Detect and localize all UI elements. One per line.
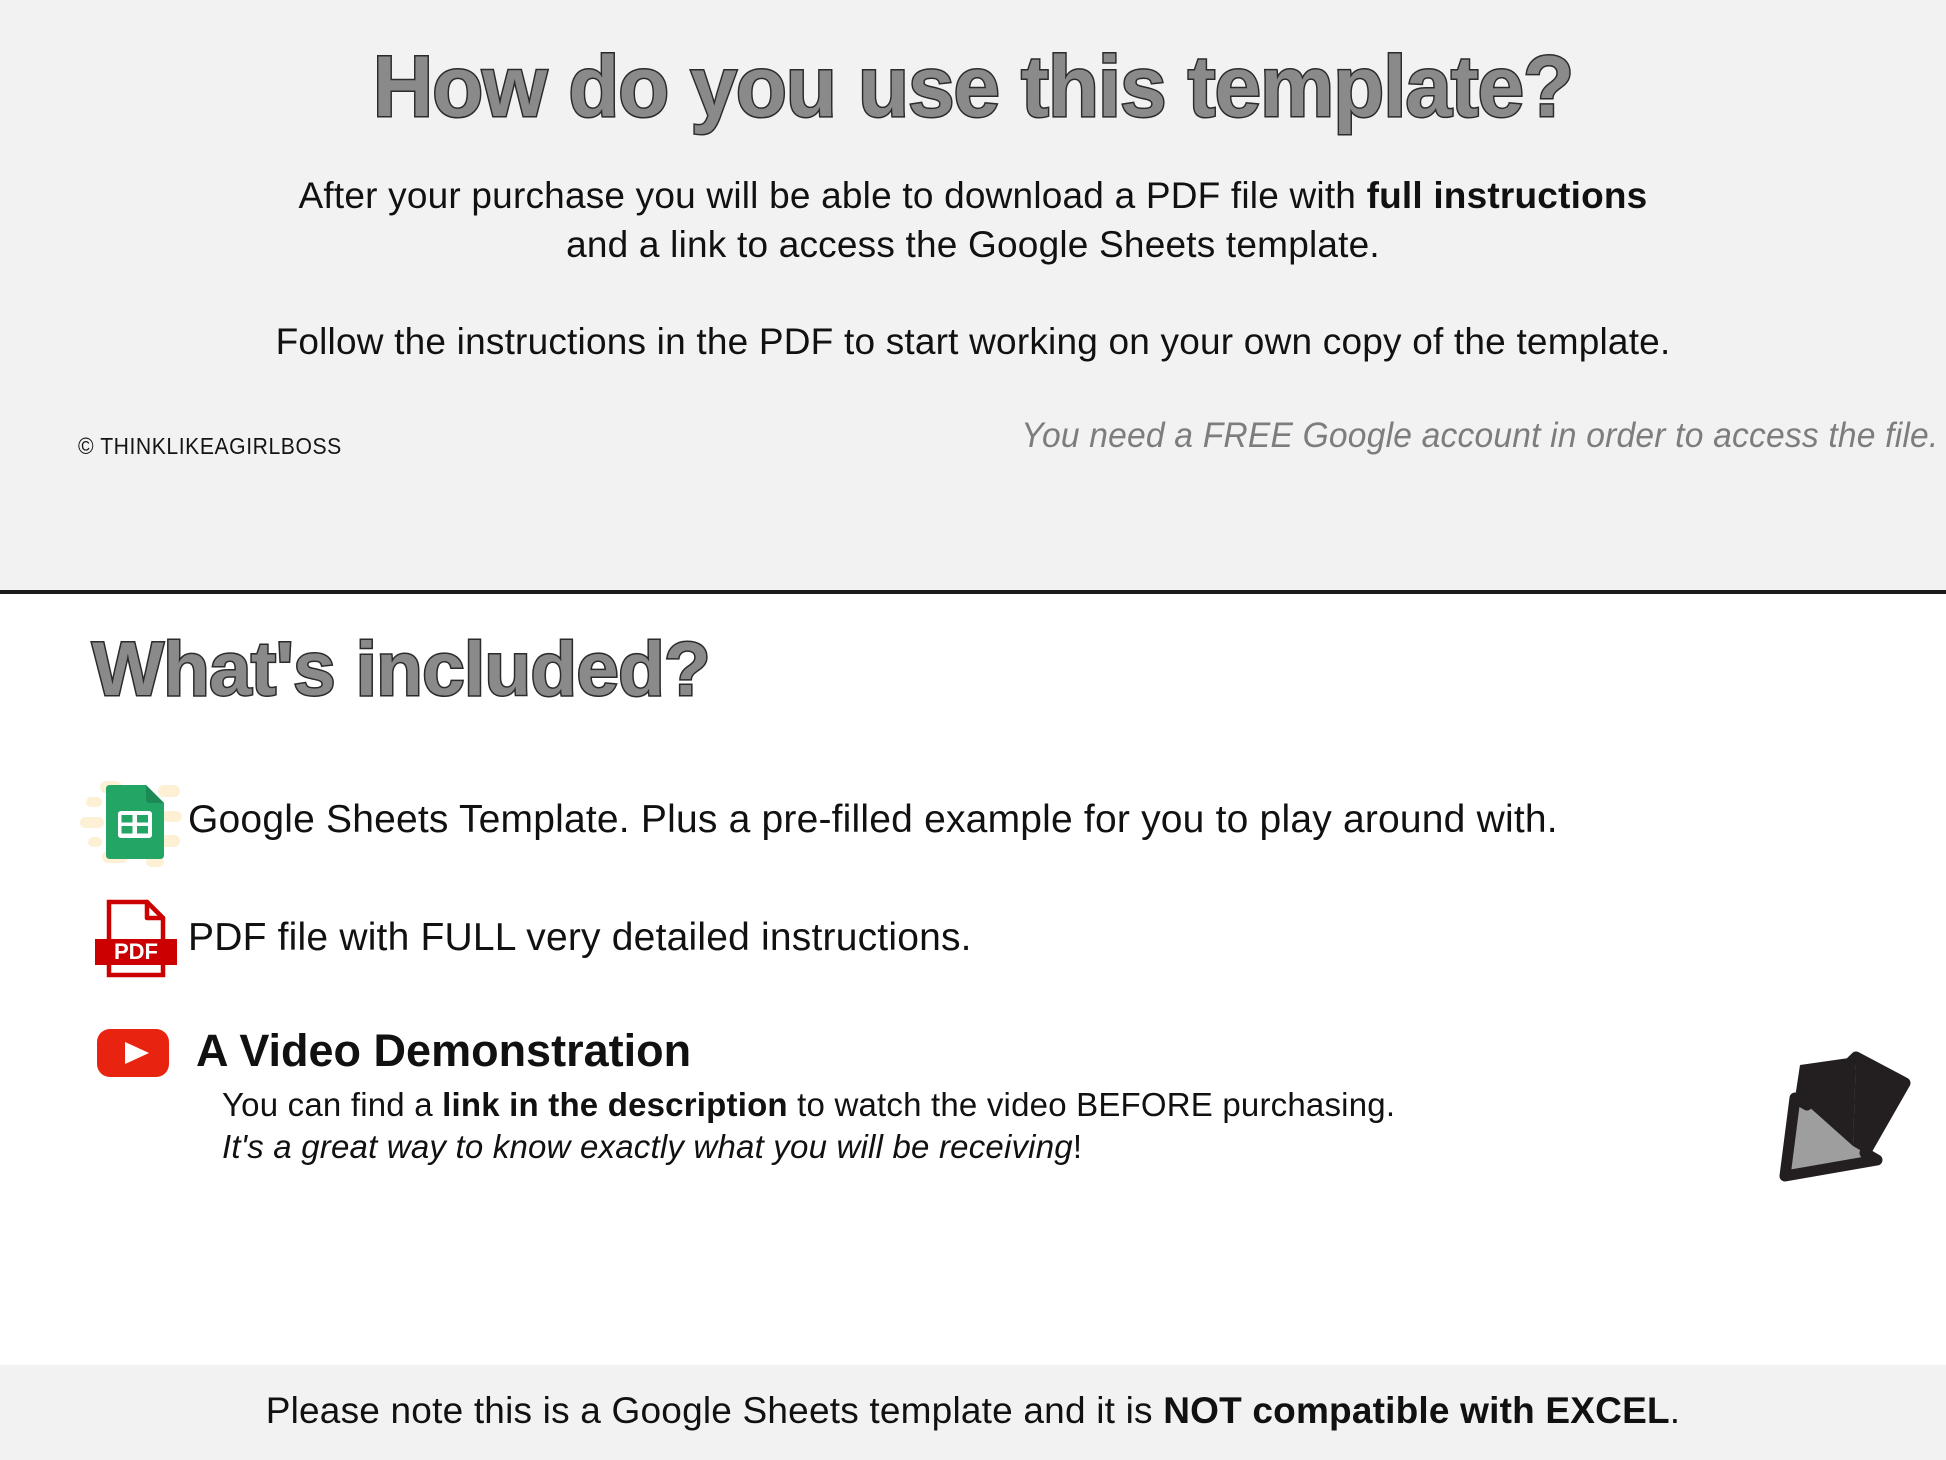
intro-paragraph: After your purchase you will be able to …: [273, 172, 1673, 270]
video-note-bold: link in the description: [442, 1086, 788, 1123]
whats-included-section: What's included?: [0, 594, 1946, 1365]
footer-note-bold: NOT compatible with EXCEL: [1163, 1390, 1670, 1431]
list-item-pdf: PDF PDF file with FULL very detailed ins…: [84, 889, 972, 987]
whats-included-heading: What's included?: [92, 632, 710, 708]
youtube-play-icon[interactable]: [84, 1002, 182, 1100]
video-note-part1: You can find a: [222, 1086, 442, 1123]
footer-note: Please note this is a Google Sheets temp…: [266, 1390, 1681, 1436]
intro-paragraph-part1: After your purchase you will be able to …: [299, 175, 1367, 216]
footer-note-bar: Please note this is a Google Sheets temp…: [0, 1365, 1946, 1460]
pdf-badge-label: PDF: [114, 939, 158, 964]
google-sheets-icon: [84, 771, 182, 869]
pdf-file-icon: PDF: [84, 889, 182, 987]
intro-paragraph-bold: full instructions: [1367, 175, 1648, 216]
video-description-note: You can find a link in the description t…: [222, 1084, 1472, 1168]
list-item-label: PDF file with FULL very detailed instruc…: [188, 916, 972, 960]
page-title: How do you use this template?: [29, 42, 1917, 132]
footer-note-part1: Please note this is a Google Sheets temp…: [266, 1390, 1163, 1431]
template-info-page: How do you use this template? After your…: [0, 0, 1946, 1460]
footer-note-part2: .: [1670, 1390, 1680, 1431]
list-item-google-sheets: Google Sheets Template. Plus a pre-fille…: [84, 771, 1558, 869]
video-note-part2: to watch the video BEFORE purchasing.: [788, 1086, 1395, 1123]
video-note-italic-tail: !: [1073, 1128, 1082, 1165]
video-note-italic: It's a great way to know exactly what yo…: [222, 1128, 1073, 1165]
copyright-notice: © THINKLIKEAGIRLBOSS: [78, 433, 342, 460]
google-account-note: You need a FREE Google account in order …: [1021, 416, 1938, 456]
intro-paragraph-part2: and a link to access the Google Sheets t…: [566, 224, 1380, 265]
list-item-label: Google Sheets Template. Plus a pre-fille…: [188, 798, 1558, 842]
how-to-use-section: How do you use this template? After your…: [0, 0, 1946, 593]
video-note-line-2: It's a great way to know exactly what yo…: [222, 1126, 1472, 1168]
list-item-label: A Video Demonstration: [196, 1025, 691, 1077]
video-note-line-1: You can find a link in the description t…: [222, 1084, 1472, 1126]
follow-instructions-paragraph: Follow the instructions in the PDF to st…: [123, 318, 1823, 367]
